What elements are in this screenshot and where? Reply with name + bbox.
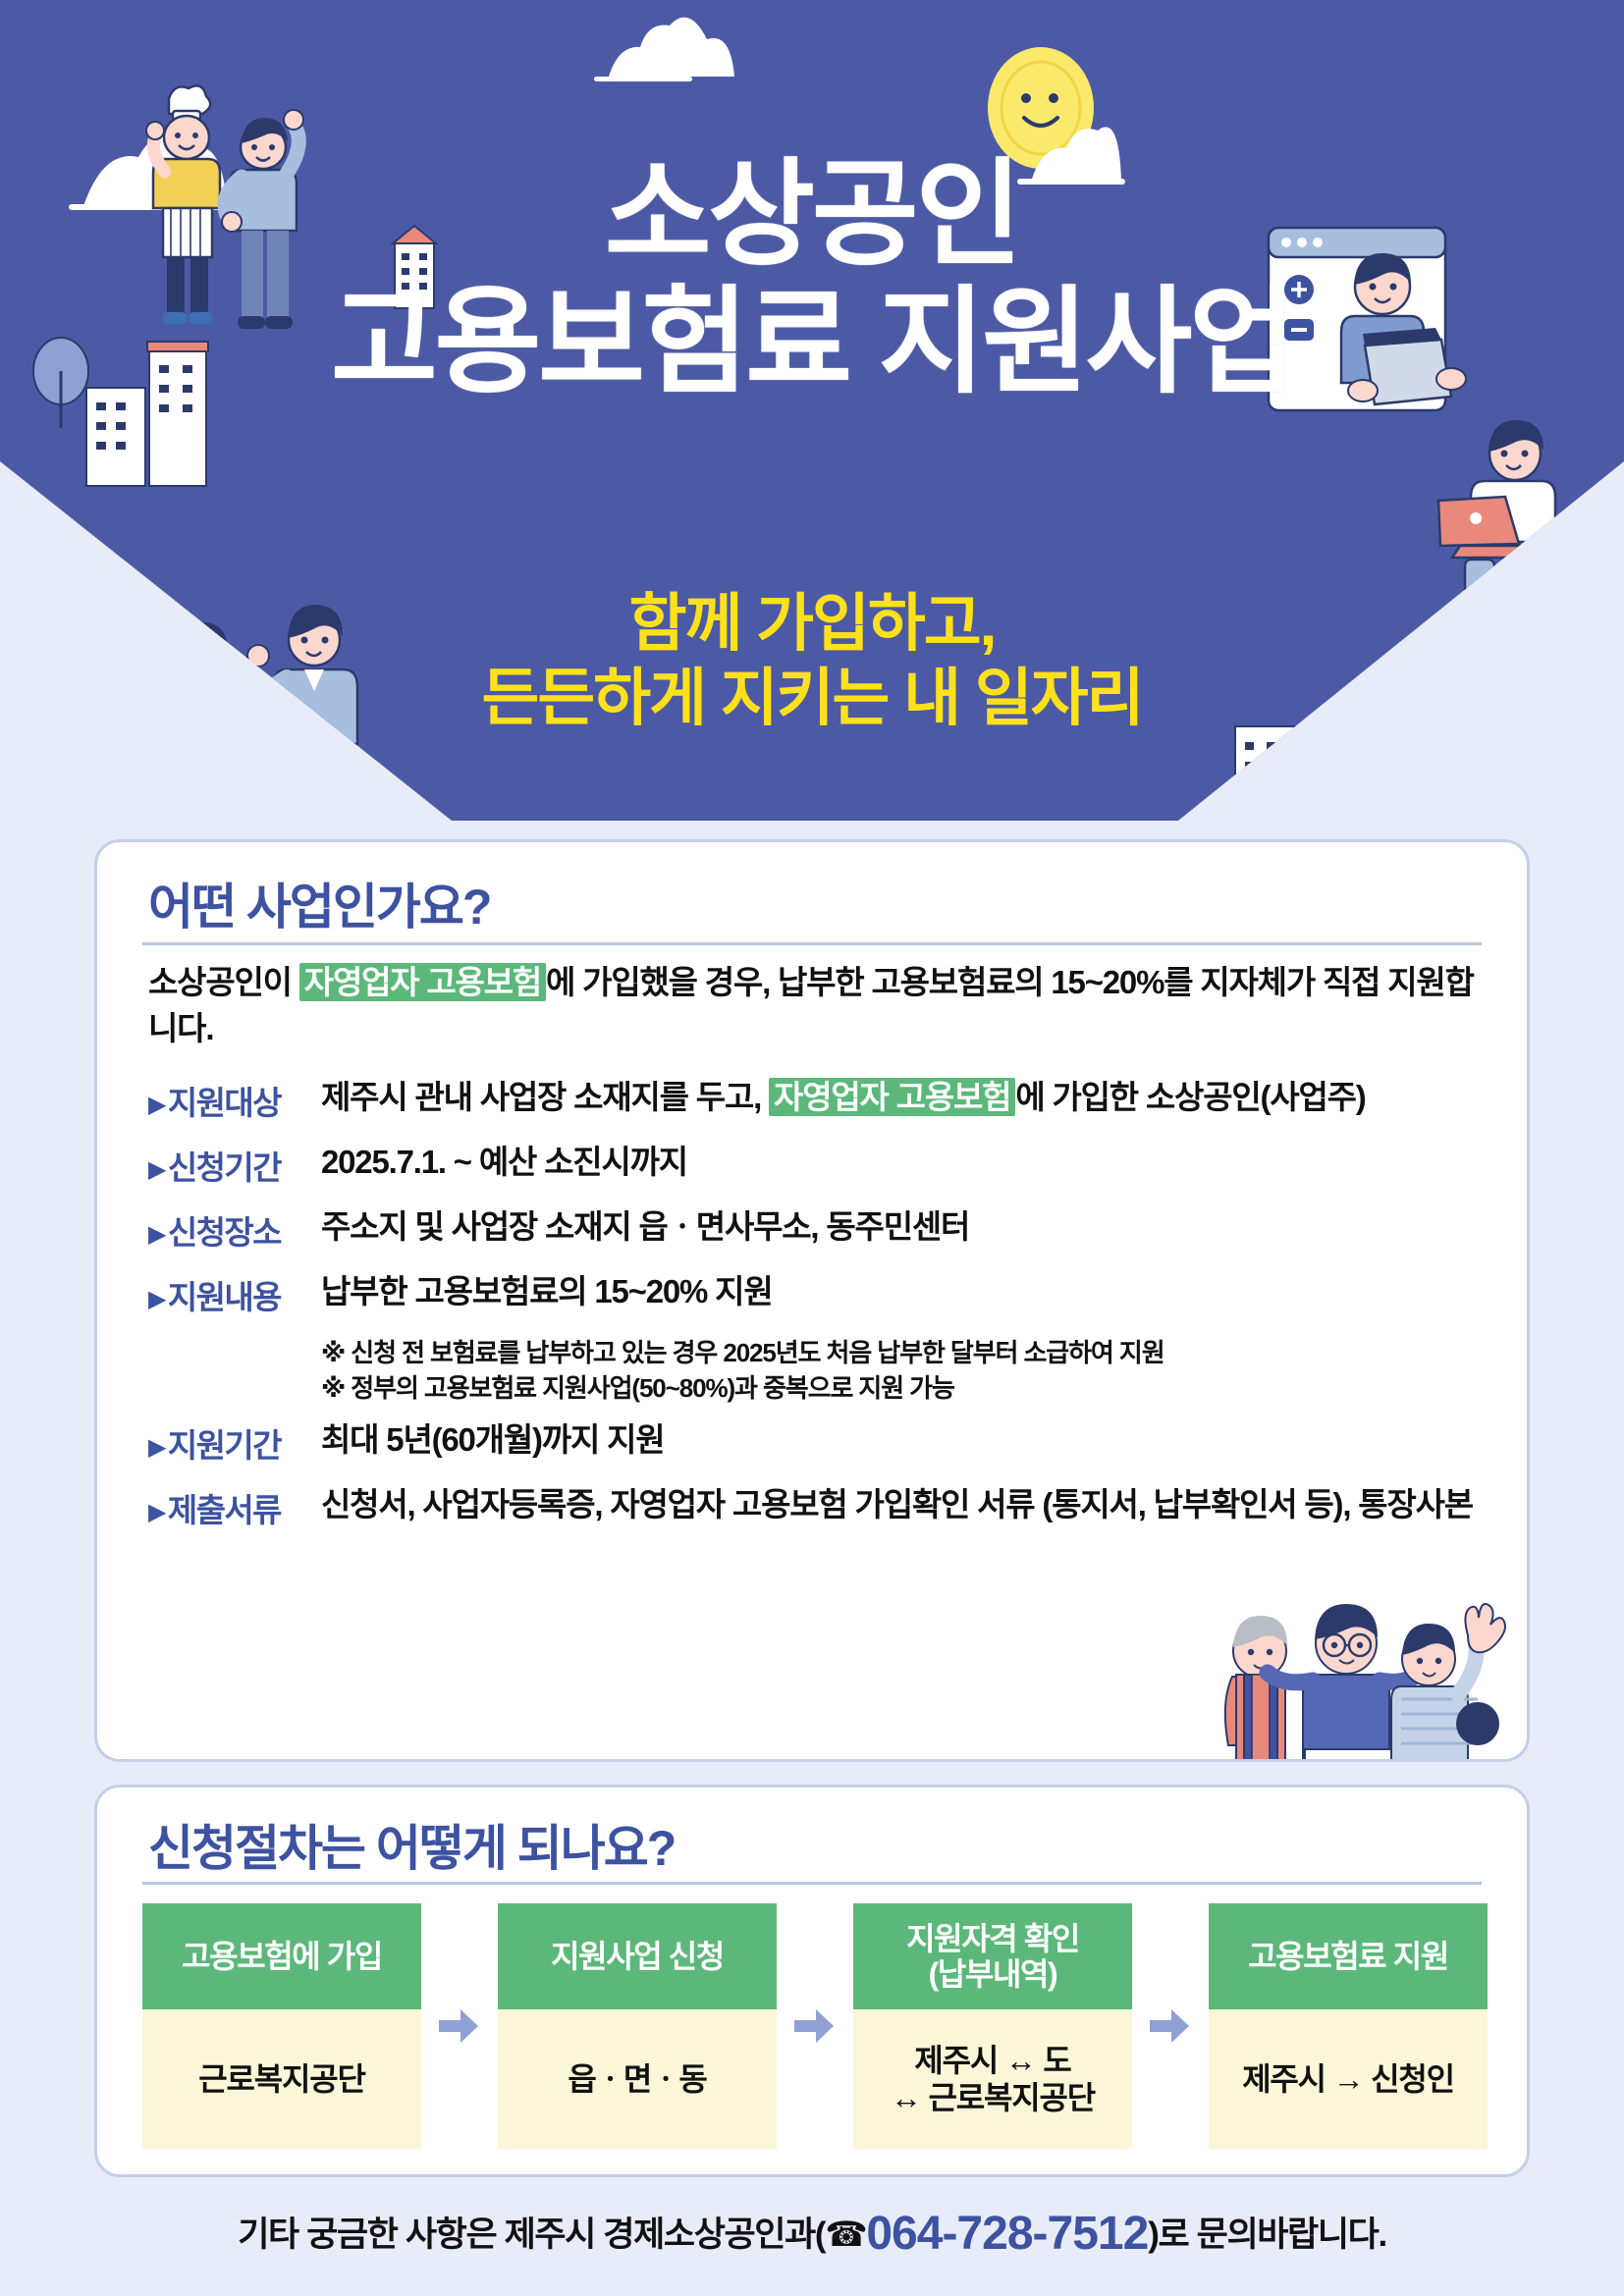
flow-step-4-head: 고용보험료 지원 (1209, 1903, 1488, 2009)
cloud-icon (594, 18, 734, 81)
bullet-triangle-icon: ▶ (148, 1156, 165, 1183)
bullet-triangle-icon: ▶ (148, 1499, 165, 1525)
about-rows: ▶지원대상 제주시 관내 사업장 소재지를 두고, 자영업자 고용보험에 가입한… (148, 1076, 1499, 1548)
about-row-content-value: 납부한 고용보험료의 15~20% 지원 (321, 1270, 1499, 1314)
footer-phone-number[interactable]: 064-728-7512 (866, 2208, 1148, 2260)
footer-contact: 기타 궁금한 사항은 제주시 경제소상공인과(☎064-728-7512)로 문… (0, 2207, 1624, 2261)
about-row-place-value: 주소지 및 사업장 소재지 읍ㆍ면사무소, 동주민센터 (321, 1205, 1499, 1250)
about-note-1: ※ 신청 전 보험료를 납부하고 있는 경우 2025년도 처음 납부한 달부터… (321, 1335, 1499, 1370)
about-row-content-label: ▶지원내용 (148, 1270, 321, 1318)
title-line-2: 고용보험료 지원사업 (0, 285, 1624, 400)
flow-arrow-2 (777, 1903, 853, 2149)
process-flow: 고용보험에 가입 근로복지공단 지원사업 신청 읍ㆍ면ㆍ동 지원자격 확인 (납… (142, 1903, 1488, 2149)
flow-step-1-body: 근로복지공단 (142, 2009, 421, 2149)
title-line-1: 소상공인 (0, 157, 1624, 273)
about-row-period: ▶신청기간 2025.7.1. ~ 예산 소진시까지 (148, 1141, 1499, 1189)
flow-step-1: 고용보험에 가입 근로복지공단 (142, 1903, 421, 2149)
flow-arrow-3 (1132, 1903, 1209, 2149)
about-row-documents: ▶제출서류 신청서, 사업자등록증, 자영업자 고용보험 가입확인 서류 (통지… (148, 1483, 1499, 1531)
flow-step-4-body: 제주시 → 신청인 (1209, 2009, 1488, 2149)
about-card: 어떤 사업인가요? 소상공인이 자영업자 고용보험에 가입했을 경우, 납부한 … (94, 839, 1530, 1762)
flow-arrow-1 (421, 1903, 498, 2149)
row-highlight: 자영업자 고용보험 (769, 1078, 1015, 1116)
about-lead-text: 소상공인이 자영업자 고용보험에 가입했을 경우, 납부한 고용보험료의 15~… (148, 960, 1484, 1052)
flow-step-3: 지원자격 확인 (납부내역) 제주시 ↔ 도 ↔ 근로복지공단 (853, 1903, 1132, 2149)
about-row-documents-label: ▶제출서류 (148, 1483, 321, 1531)
bullet-triangle-icon: ▶ (148, 1434, 165, 1461)
flow-step-3-head: 지원자격 확인 (납부내역) (853, 1903, 1132, 2009)
process-divider (142, 1882, 1482, 1885)
about-divider (142, 942, 1482, 945)
about-row-target-value: 제주시 관내 사업장 소재지를 두고, 자영업자 고용보험에 가입한 소상공인(… (321, 1076, 1499, 1120)
city-buildings-right-illustration (1235, 726, 1445, 829)
about-row-duration-label: ▶지원기간 (148, 1418, 321, 1467)
lead-pre: 소상공인이 (148, 964, 299, 1000)
flow-step-2-body: 읍ㆍ면ㆍ동 (498, 2009, 777, 2149)
bullet-triangle-icon: ▶ (148, 1221, 165, 1248)
flow-step-4: 고용보험료 지원 제주시 → 신청인 (1209, 1903, 1488, 2149)
about-row-duration-value: 최대 5년(60개월)까지 지원 (321, 1418, 1499, 1463)
bullet-triangle-icon: ▶ (148, 1286, 165, 1312)
about-row-content: ▶지원내용 납부한 고용보험료의 15~20% 지원 (148, 1270, 1499, 1318)
subtitle-line-1: 함께 가입하고, (0, 587, 1624, 662)
about-note-2: ※ 정부의 고용보험료 지원사업(50~80%)과 중복으로 지원 가능 (321, 1370, 1499, 1406)
footer-text-post: )로 문의바랍니다. (1148, 2216, 1386, 2254)
about-row-place-label: ▶신청장소 (148, 1205, 321, 1254)
about-row-target: ▶지원대상 제주시 관내 사업장 소재지를 두고, 자영업자 고용보험에 가입한… (148, 1076, 1499, 1124)
process-heading: 신청절차는 어떻게 되나요? (148, 1809, 675, 1880)
process-card: 신청절차는 어떻게 되나요? 고용보험에 가입 근로복지공단 지원사업 신청 읍… (94, 1785, 1530, 2177)
flow-step-1-head: 고용보험에 가입 (142, 1903, 421, 2009)
three-people-illustration (1215, 1557, 1509, 1762)
about-row-target-label: ▶지원대상 (148, 1076, 321, 1124)
about-heading: 어떤 사업인가요? (148, 868, 490, 938)
about-row-documents-value: 신청서, 사업자등록증, 자영업자 고용보험 가입확인 서류 (통지서, 납부확… (321, 1483, 1499, 1527)
poster-root: 소상공인 고용보험료 지원사업 함께 가입하고, 든든하게 지키는 내 일자리 … (0, 0, 1624, 2296)
footer-text-pre: 기타 궁금한 사항은 제주시 경제소상공인과(☎ (238, 2216, 866, 2254)
flow-step-2: 지원사업 신청 읍ㆍ면ㆍ동 (498, 1903, 777, 2149)
poster-title: 소상공인 고용보험료 지원사업 (0, 157, 1624, 400)
subtitle-line-2: 든든하게 지키는 내 일자리 (0, 662, 1624, 736)
about-row-period-value: 2025.7.1. ~ 예산 소진시까지 (321, 1141, 1499, 1185)
about-row-period-label: ▶신청기간 (148, 1141, 321, 1189)
about-row-place: ▶신청장소 주소지 및 사업장 소재지 읍ㆍ면사무소, 동주민센터 (148, 1205, 1499, 1254)
poster-subtitle: 함께 가입하고, 든든하게 지키는 내 일자리 (0, 587, 1624, 735)
hero-banner: 소상공인 고용보험료 지원사업 함께 가입하고, 든든하게 지키는 내 일자리 (0, 0, 1624, 829)
bullet-triangle-icon: ▶ (148, 1092, 165, 1118)
flow-step-3-body: 제주시 ↔ 도 ↔ 근로복지공단 (853, 2009, 1132, 2149)
about-row-duration: ▶지원기간 최대 5년(60개월)까지 지원 (148, 1418, 1499, 1467)
about-notes: ※ 신청 전 보험료를 납부하고 있는 경우 2025년도 처음 납부한 달부터… (321, 1335, 1499, 1407)
lead-highlight: 자영업자 고용보험 (299, 963, 546, 1001)
flow-step-2-head: 지원사업 신청 (498, 1903, 777, 2009)
